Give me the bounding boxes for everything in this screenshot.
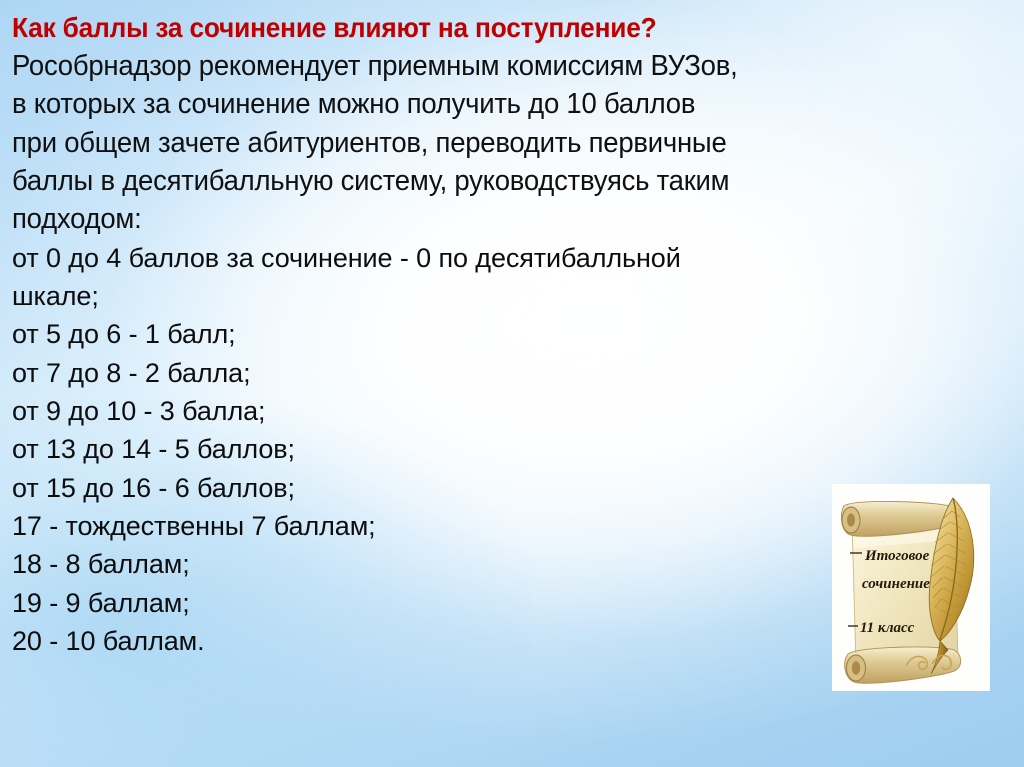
intro-line-5: подходом:	[12, 200, 975, 238]
list-item: от 9 до 10 - 3 балла;	[12, 392, 1010, 430]
list-item: от 13 до 14 - 5 баллов;	[12, 430, 1010, 468]
list-item: от 7 до 8 - 2 балла;	[12, 354, 1010, 392]
list-item-line-primary: от 9 до 10 - 3 балла;	[12, 392, 1010, 430]
scroll-quill-icon: Итоговое сочинение 11 класс	[832, 484, 990, 691]
list-item-line-primary: от 13 до 14 - 5 баллов;	[12, 430, 1010, 468]
list-item: от 5 до 6 - 1 балл;	[12, 315, 1010, 353]
page-title: Как баллы за сочинение влияют на поступл…	[12, 11, 965, 44]
intro-line-1: Рособрнадзор рекомендует приемным комисс…	[12, 47, 975, 85]
list-item: от 0 до 4 баллов за сочинение - 0 по дес…	[12, 239, 1010, 316]
intro-line-4: баллы в десятибалльную систему, руководс…	[12, 162, 975, 200]
presentation-slide: Как баллы за сочинение влияют на поступл…	[0, 0, 1024, 767]
list-item-line-primary: от 5 до 6 - 1 балл;	[12, 315, 1010, 353]
scroll-caption-line-2: сочинение	[862, 576, 930, 592]
scroll-and-quill-image: Итоговое сочинение 11 класс	[832, 484, 990, 691]
intro-line-3: при общем зачете абитуриентов, переводит…	[12, 124, 975, 162]
list-item-line-primary: от 0 до 4 баллов за сочинение - 0 по дес…	[12, 239, 1010, 277]
scroll-caption-line-3: 11 класс	[860, 620, 915, 636]
intro-paragraph: Рособрнадзор рекомендует приемным комисс…	[12, 47, 1010, 239]
scroll-caption-line-1: Итоговое	[864, 548, 930, 564]
list-item-line-continued: шкале;	[12, 277, 1010, 315]
intro-line-2: в которых за сочинение можно получить до…	[12, 85, 975, 123]
list-item-line-primary: от 7 до 8 - 2 балла;	[12, 354, 1010, 392]
